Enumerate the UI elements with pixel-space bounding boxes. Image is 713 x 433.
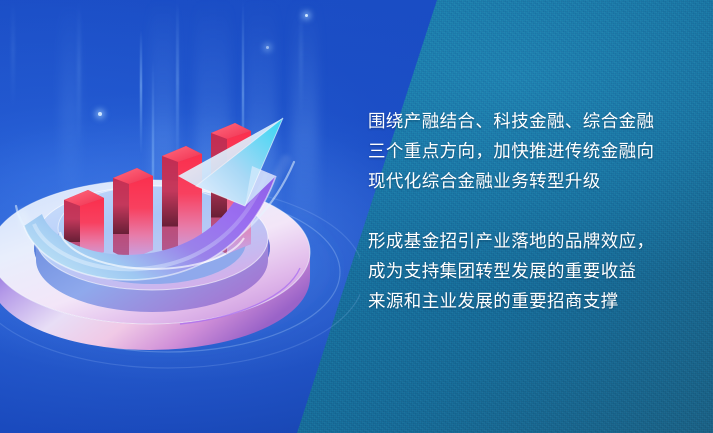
- paragraph-outcome-line-1: 形成基金招引产业落地的品牌效应，: [368, 227, 688, 257]
- bar-2: [113, 168, 153, 260]
- paragraph-strategy: 围绕产融结合、科技金融、综合金融 三个重点方向，加快推进传统金融向 现代化综合金…: [368, 107, 688, 197]
- paragraph-strategy-line-3: 现代化综合金融业务转型升级: [368, 167, 688, 197]
- growth-chart-illustration: [0, 0, 360, 433]
- paragraph-outcome-line-3: 来源和主业发展的重要招商支撑: [368, 287, 688, 317]
- paragraph-strategy-line-2: 三个重点方向，加快推进传统金融向: [368, 137, 688, 167]
- paragraph-strategy-line-1: 围绕产融结合、科技金融、综合金融: [368, 107, 688, 137]
- paragraph-outcome-line-2: 成为支持集团转型发展的重要收益: [368, 257, 688, 287]
- banner-root: 围绕产融结合、科技金融、综合金融 三个重点方向，加快推进传统金融向 现代化综合金…: [0, 0, 713, 433]
- paragraph-outcome: 形成基金招引产业落地的品牌效应， 成为支持集团转型发展的重要收益 来源和主业发展…: [368, 227, 688, 317]
